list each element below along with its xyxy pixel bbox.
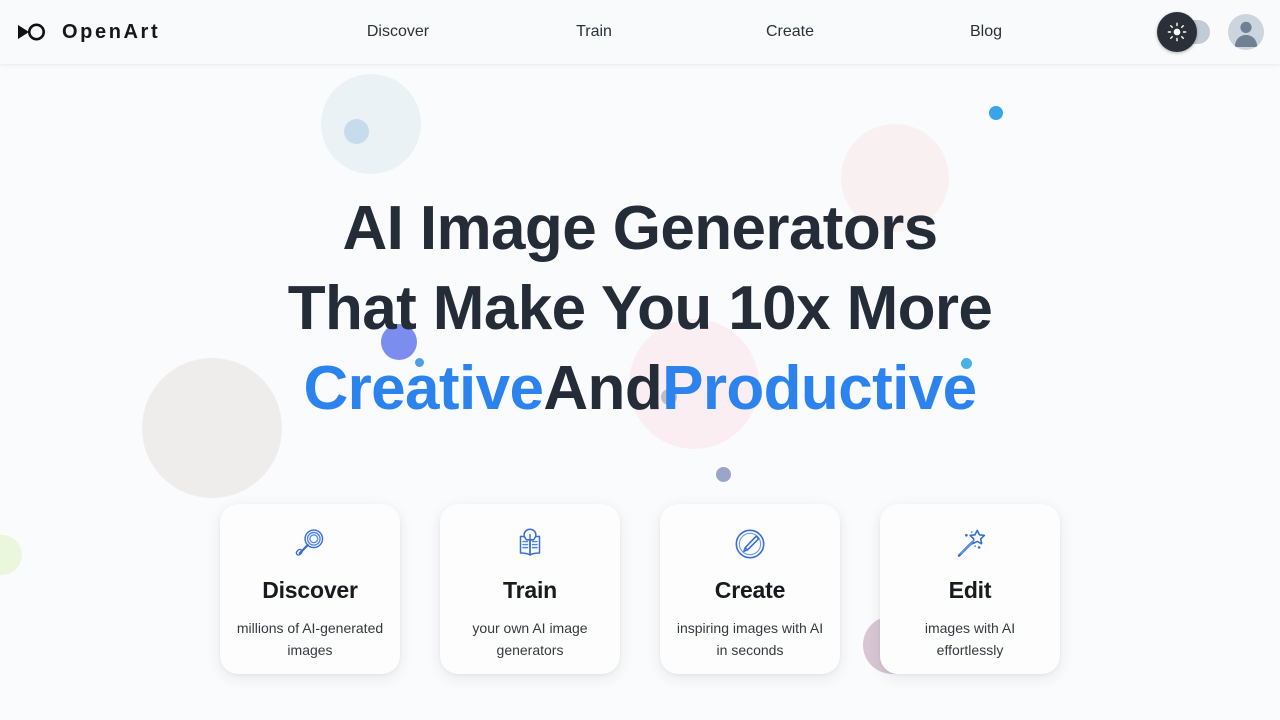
magic-wand-icon: [951, 523, 989, 565]
card-title: Edit: [949, 577, 992, 604]
user-avatar[interactable]: [1228, 14, 1264, 50]
nav-item-blog[interactable]: Blog: [888, 0, 1084, 64]
feature-cards: Discover millions of AI-generated images: [0, 504, 1280, 674]
card-description: inspiring images with AI in seconds: [675, 617, 825, 661]
card-description: your own AI image generators: [455, 617, 605, 661]
card-description: images with AI effortlessly: [895, 617, 1045, 661]
headline-line-3: CreativeAndProductive: [0, 349, 1280, 429]
brand-name: OpenArt: [62, 21, 160, 44]
openart-infinity-logo-icon: [14, 15, 48, 49]
user-avatar-icon: [1228, 14, 1264, 50]
site-header: OpenArt Discover Train Create Blog: [0, 0, 1280, 64]
headline-accent-productive: Productive: [662, 354, 976, 423]
main-navigation: Discover Train Create Blog: [300, 0, 1164, 64]
headline-and: And: [543, 354, 662, 423]
feature-card-train[interactable]: Train your own AI image generators: [440, 504, 620, 674]
book-lightbulb-icon: [511, 523, 549, 565]
hero-section: AI Image Generators That Make You 10x Mo…: [0, 64, 1280, 720]
nav-item-create[interactable]: Create: [692, 0, 888, 64]
sun-icon: [1167, 22, 1187, 42]
header-actions: [1164, 14, 1280, 50]
page-title: AI Image Generators That Make You 10x Mo…: [0, 189, 1280, 429]
feature-card-edit[interactable]: Edit images with AI effortlessly: [880, 504, 1060, 674]
brand-logo[interactable]: OpenArt: [0, 15, 300, 49]
page-root: OpenArt Discover Train Create Blog: [0, 0, 1280, 720]
headline-line-1: AI Image Generators: [0, 189, 1280, 269]
nav-item-train[interactable]: Train: [496, 0, 692, 64]
magnifier-icon: [291, 523, 329, 565]
nav-item-discover[interactable]: Discover: [300, 0, 496, 64]
headline-accent-creative: Creative: [303, 354, 543, 423]
card-title: Create: [715, 577, 785, 604]
feature-card-create[interactable]: Create inspiring images with AI in secon…: [660, 504, 840, 674]
card-title: Train: [503, 577, 557, 604]
headline-line-2: That Make You 10x More: [0, 269, 1280, 349]
pencil-circle-icon: [731, 523, 769, 565]
feature-card-discover[interactable]: Discover millions of AI-generated images: [220, 504, 400, 674]
theme-toggle[interactable]: [1164, 20, 1210, 44]
card-title: Discover: [262, 577, 358, 604]
theme-toggle-knob[interactable]: [1157, 12, 1197, 52]
card-description: millions of AI-generated images: [235, 617, 385, 661]
